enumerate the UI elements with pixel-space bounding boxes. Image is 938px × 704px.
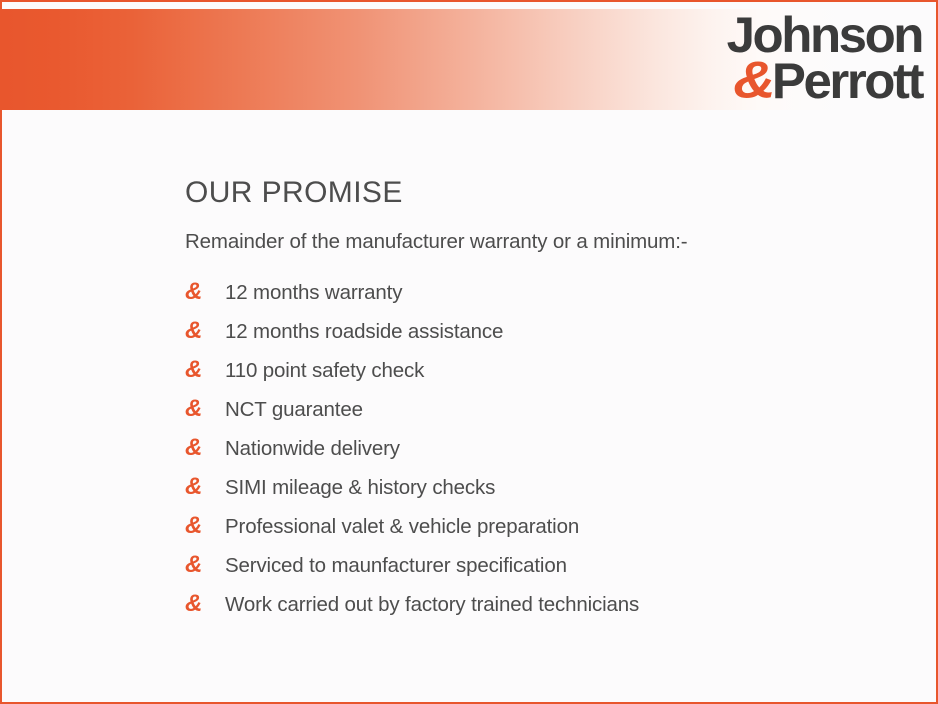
ampersand-bullet-icon: & (185, 397, 225, 421)
page-title: OUR PROMISE (185, 177, 885, 209)
list-item-label: Professional valet & vehicle preparation (225, 516, 579, 539)
list-item: & Nationwide delivery (185, 436, 885, 461)
ampersand-bullet-icon: & (185, 514, 225, 538)
list-item-label: Nationwide delivery (225, 438, 400, 461)
list-item-label: 12 months warranty (225, 282, 402, 305)
promise-slide: Johnson &Perrott OUR PROMISE Remainder o… (0, 0, 938, 704)
list-item-label: SIMI mileage & history checks (225, 477, 495, 500)
ampersand-icon: & (733, 54, 773, 106)
content-area: OUR PROMISE Remainder of the manufacture… (185, 177, 885, 631)
promise-list: & 12 months warranty & 12 months roadsid… (185, 280, 885, 617)
list-item: & SIMI mileage & history checks (185, 475, 885, 500)
list-item: & Serviced to maunfacturer specification (185, 553, 885, 578)
list-item-label: NCT guarantee (225, 399, 363, 422)
ampersand-bullet-icon: & (185, 475, 225, 499)
ampersand-bullet-icon: & (185, 436, 225, 460)
list-item-label: Serviced to maunfacturer specification (225, 555, 567, 578)
list-item: & 110 point safety check (185, 358, 885, 383)
list-item-label: Work carried out by factory trained tech… (225, 594, 639, 617)
ampersand-bullet-icon: & (185, 280, 225, 304)
list-item: & Professional valet & vehicle preparati… (185, 514, 885, 539)
logo-line-perrott: &Perrott (689, 56, 922, 106)
ampersand-bullet-icon: & (185, 553, 225, 577)
list-item: & 12 months roadside assistance (185, 319, 885, 344)
logo-line-perrott-text: Perrott (772, 53, 922, 109)
list-item: & NCT guarantee (185, 397, 885, 422)
ampersand-bullet-icon: & (185, 592, 225, 616)
ampersand-bullet-icon: & (185, 358, 225, 382)
list-item: & 12 months warranty (185, 280, 885, 305)
johnson-perrott-logo: Johnson &Perrott (694, 10, 922, 108)
list-item-label: 12 months roadside assistance (225, 321, 503, 344)
ampersand-bullet-icon: & (185, 319, 225, 343)
list-item-label: 110 point safety check (225, 360, 424, 383)
subtitle: Remainder of the manufacturer warranty o… (185, 231, 885, 254)
list-item: & Work carried out by factory trained te… (185, 592, 885, 617)
